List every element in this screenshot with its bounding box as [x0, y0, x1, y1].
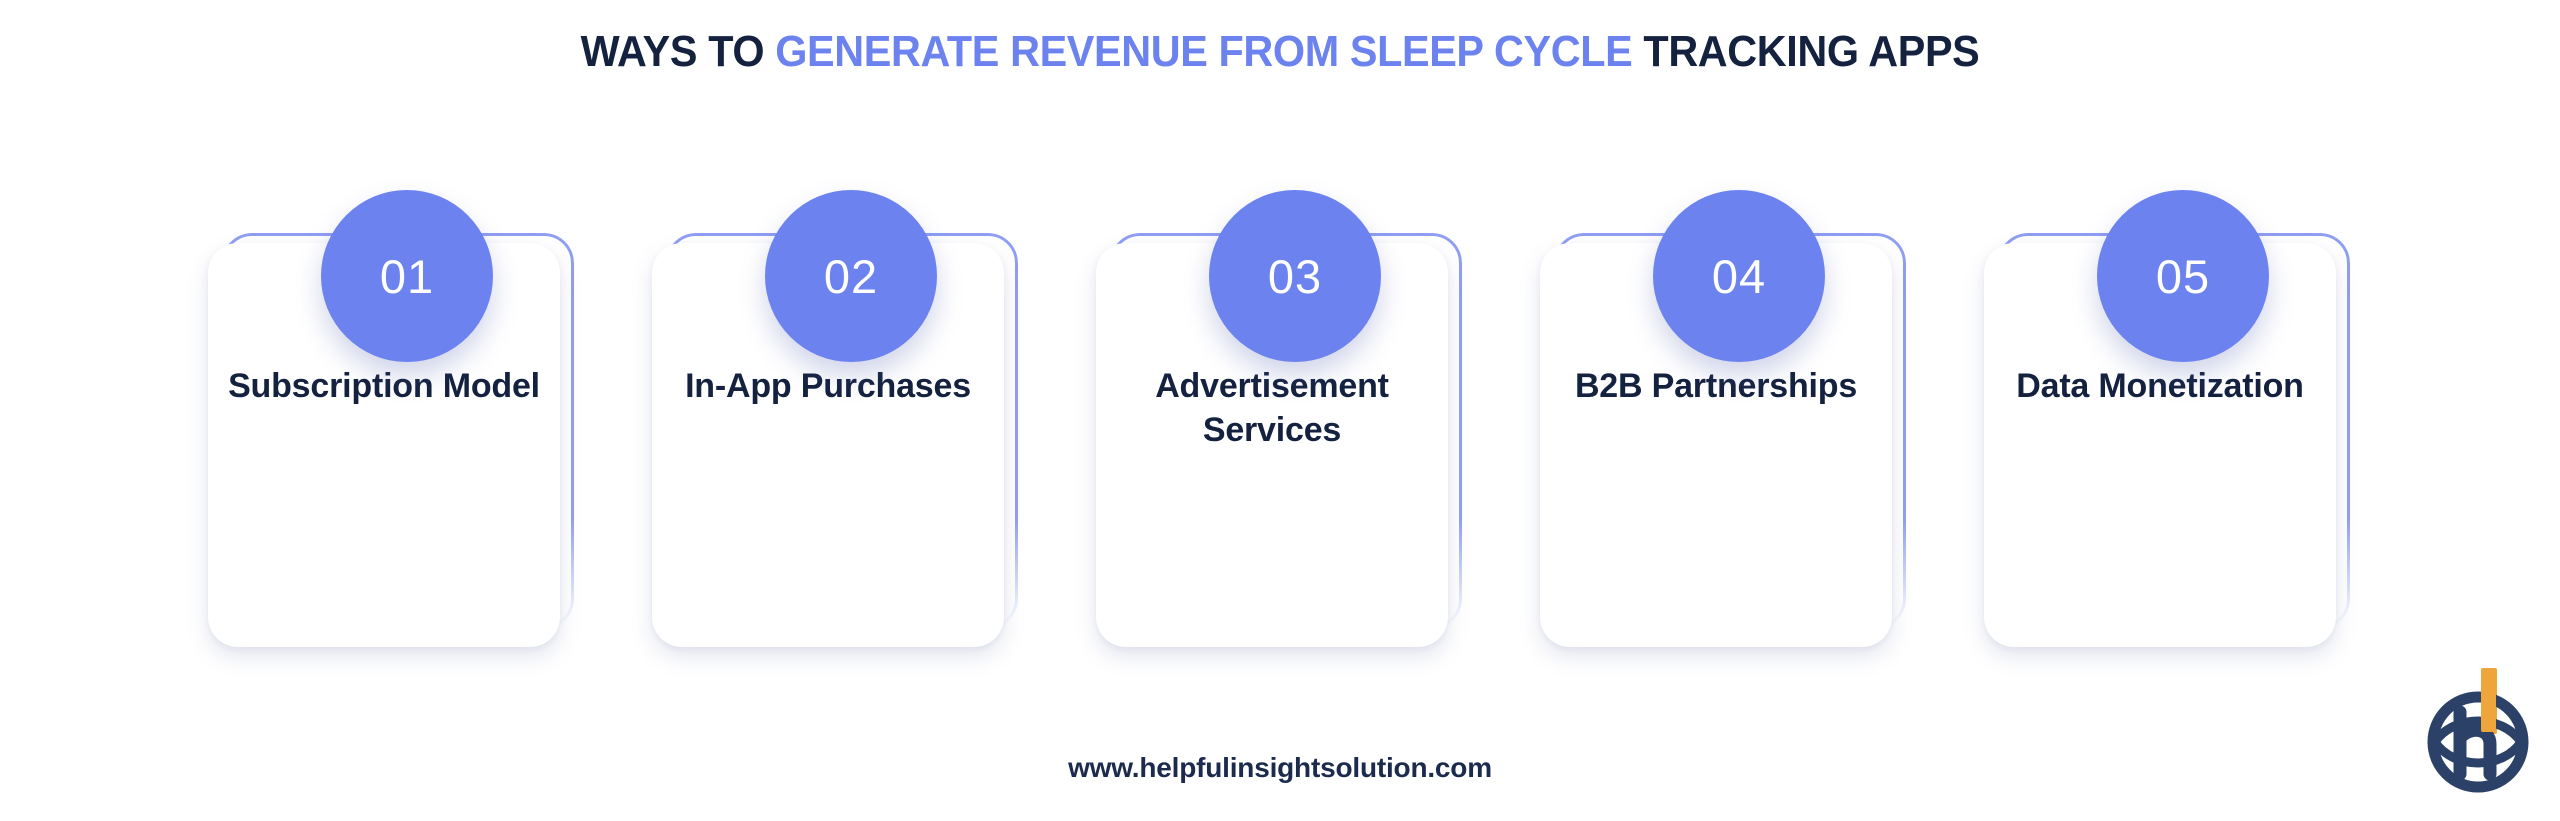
- brand-logo-svg: [2424, 668, 2540, 800]
- card-number-badge: 04: [1653, 190, 1825, 362]
- card-item[interactable]: In-App Purchases 02: [652, 233, 1020, 663]
- infographic-page: WAYS TO GENERATE REVENUE FROM SLEEP CYCL…: [0, 0, 2560, 821]
- card-item[interactable]: Advertisement Services 03: [1096, 233, 1464, 663]
- footer-website-url: www.helpfulinsightsolution.com: [0, 752, 2560, 784]
- card-number-badge: 05: [2097, 190, 2269, 362]
- logo-ring: [2433, 697, 2523, 787]
- card-number: 04: [1712, 253, 1766, 300]
- title-part-1: WAYS TO: [581, 27, 776, 76]
- cards-row: Subscription Model 01 In-App Purchases 0…: [208, 233, 2352, 663]
- card-number: 03: [1268, 253, 1322, 300]
- card-label: Advertisement Services: [1096, 365, 1448, 452]
- brand-logo-icon: [2424, 668, 2540, 800]
- card-label: Data Monetization: [1984, 365, 2336, 409]
- card-label: B2B Partnerships: [1540, 365, 1892, 409]
- card-item[interactable]: Subscription Model 01: [208, 233, 576, 663]
- page-title: WAYS TO GENERATE REVENUE FROM SLEEP CYCL…: [77, 28, 2483, 76]
- title-part-2: TRACKING APPS: [1632, 27, 1979, 76]
- title-accent: GENERATE REVENUE FROM SLEEP CYCLE: [775, 27, 1632, 76]
- card-number: 05: [2156, 253, 2210, 300]
- card-number: 02: [824, 253, 878, 300]
- card-label: In-App Purchases: [652, 365, 1004, 409]
- card-item[interactable]: Data Monetization 05: [1984, 233, 2352, 663]
- card-label: Subscription Model: [208, 365, 560, 409]
- card-number-badge: 02: [765, 190, 937, 362]
- logo-i-stem-overlay: [2481, 674, 2496, 732]
- card-number-badge: 01: [321, 190, 493, 362]
- card-item[interactable]: B2B Partnerships 04: [1540, 233, 1908, 663]
- card-number: 01: [380, 253, 434, 300]
- card-number-badge: 03: [1209, 190, 1381, 362]
